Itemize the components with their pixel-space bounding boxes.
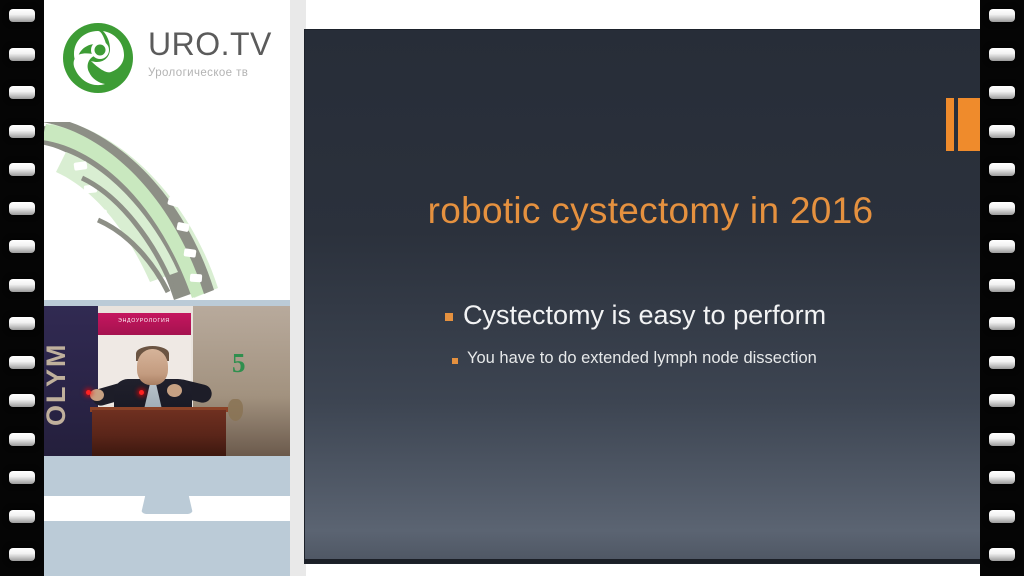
film-sprocket-hole-icon (9, 471, 35, 484)
photo-crest (228, 399, 243, 421)
film-sprocket-hole-icon (9, 202, 35, 215)
film-sprocket-hole-icon (9, 356, 35, 369)
slide-bottom-edge (305, 559, 996, 563)
photo-banner-text: ЭНДОУРОЛОГИЯ (99, 318, 189, 324)
film-sprocket-hole-icon (9, 317, 35, 330)
photo-wall-logo: 5 (232, 348, 264, 380)
film-sprocket-hole-icon (989, 279, 1015, 292)
bullet-text: You have to do extended lymph node disse… (467, 349, 817, 368)
film-strip-left (0, 0, 44, 576)
film-sprocket-hole-icon (9, 279, 35, 292)
film-strip-right (980, 0, 1024, 576)
film-sprocket-hole-icon (989, 86, 1015, 99)
film-sprocket-hole-icon (989, 394, 1015, 407)
brand-logo-lockup: URO.TV Урологическое тв (62, 22, 272, 94)
monitor-stand-icon (141, 496, 193, 514)
film-sprocket-hole-icon (9, 394, 35, 407)
bullet-square-icon (445, 313, 453, 321)
film-sprocket-hole-icon (989, 9, 1015, 22)
film-sprocket-hole-icon (9, 9, 35, 22)
photo-sponsor-text: OLYM (42, 312, 97, 456)
orange-block-marker-icon (958, 98, 982, 151)
bullet-text: Cystectomy is easy to perform (463, 300, 826, 331)
film-sprocket-hole-icon (989, 240, 1015, 253)
bullet-square-icon (452, 358, 458, 364)
film-sprocket-hole-icon (989, 471, 1015, 484)
brand-text: URO.TV Урологическое тв (148, 22, 272, 79)
presentation-slide[interactable]: robotic cystectomy in 2016 Cystectomy is… (305, 30, 996, 563)
video-screen[interactable]: ЭНДОУРОЛОГИЯ 5 OLYM (42, 306, 290, 456)
photo-banner-pink (97, 313, 191, 335)
list-item: Cystectomy is easy to perform (445, 300, 965, 331)
photo-speaker-hand-left (90, 389, 104, 401)
panel-divider (290, 0, 306, 576)
film-sprocket-hole-icon (989, 317, 1015, 330)
video-thumbnail-monitor[interactable]: ЭНДОУРОЛОГИЯ 5 OLYM (36, 300, 290, 576)
film-sprocket-hole-icon (989, 510, 1015, 523)
film-sprocket-hole-icon (9, 510, 35, 523)
film-sprocket-hole-icon (989, 163, 1015, 176)
film-sprocket-hole-icon (989, 202, 1015, 215)
slide-bullet-list: Cystectomy is easy to perform You have t… (445, 300, 965, 368)
film-sprocket-hole-icon (9, 240, 35, 253)
uro-tv-circular-swirl-logo-icon (62, 22, 134, 94)
film-sprocket-hole-icon (989, 48, 1015, 61)
content-area: URO.TV Урологическое тв (28, 0, 996, 576)
film-sprocket-hole-icon (989, 548, 1015, 561)
slide-title: robotic cystectomy in 2016 (305, 190, 996, 232)
photo-light-spot-right (139, 390, 144, 395)
orange-bar-marker-icon (946, 98, 954, 151)
film-sprocket-hole-icon (989, 125, 1015, 138)
brand-title: URO.TV (148, 28, 272, 60)
film-sprocket-hole-icon (989, 433, 1015, 446)
photo-light-spot-left (86, 390, 91, 395)
branding-panel: URO.TV Урологическое тв (28, 0, 290, 576)
film-sprocket-hole-icon (9, 125, 35, 138)
list-item: You have to do extended lymph node disse… (452, 349, 965, 368)
monitor-base (36, 521, 290, 576)
monitor-bezel: ЭНДОУРОЛОГИЯ 5 OLYM (36, 300, 290, 496)
photo-speaker-hand-right (167, 384, 182, 397)
photo-podium (92, 410, 226, 456)
film-sprocket-hole-icon (9, 163, 35, 176)
screenshot-root: URO.TV Урологическое тв (0, 0, 1024, 576)
film-sprocket-hole-icon (9, 433, 35, 446)
brand-subtitle: Урологическое тв (148, 67, 272, 79)
film-sprocket-hole-icon (9, 86, 35, 99)
film-sprocket-hole-icon (9, 548, 35, 561)
photo-speaker-head (137, 349, 168, 385)
film-sprocket-hole-icon (989, 356, 1015, 369)
film-sprocket-hole-icon (9, 48, 35, 61)
